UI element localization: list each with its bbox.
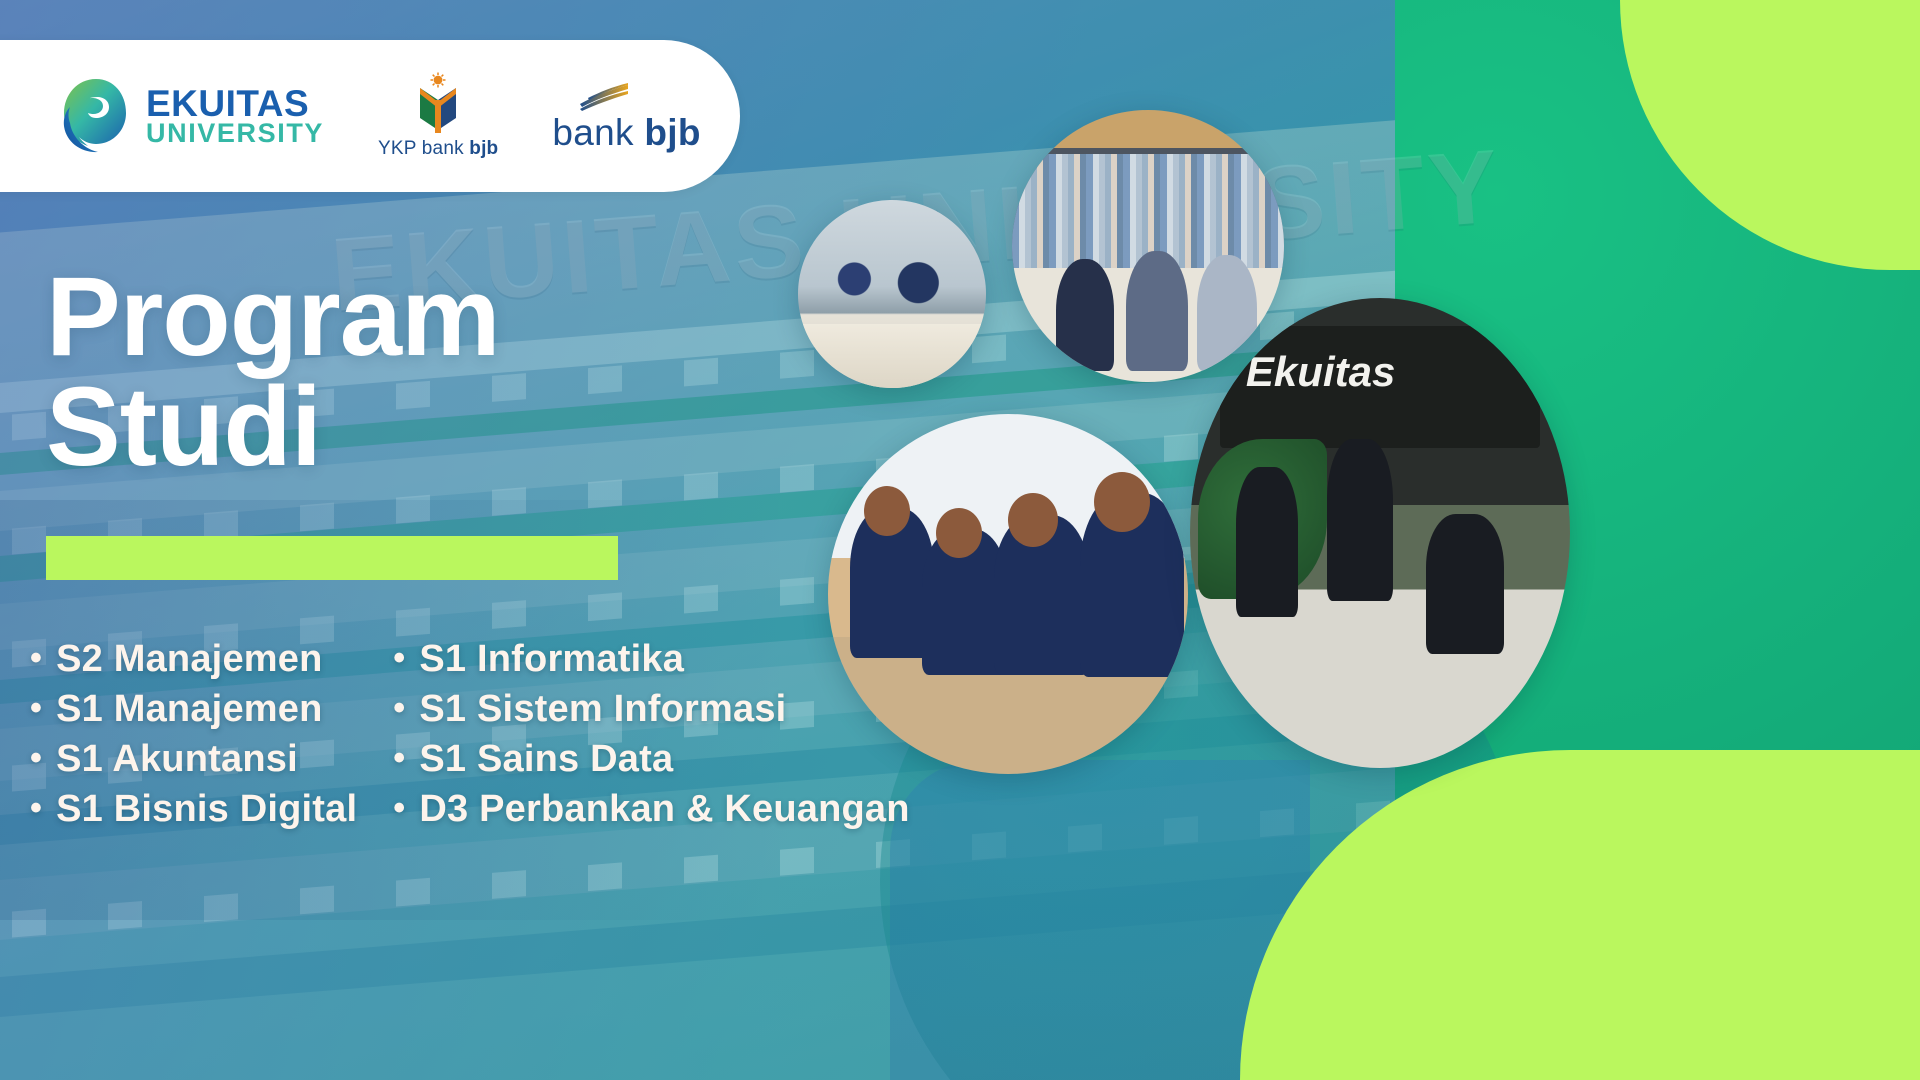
logo-ekuitas-line2: UNIVERSITY	[146, 121, 324, 146]
swoosh-globe-icon	[60, 77, 132, 155]
photo-circle-consultation	[798, 200, 986, 388]
bullet-icon: •	[30, 641, 42, 675]
wave-stripes-icon	[578, 82, 632, 112]
photo-student-head	[1008, 493, 1058, 547]
bullet-icon: •	[30, 791, 42, 825]
program-label: D3 Perbankan & Keuangan	[419, 786, 909, 834]
list-item[interactable]: • S1 Akuntansi	[30, 736, 357, 784]
logo-ekuitas-line1: EKUITAS	[146, 87, 324, 121]
page-title: Program Studi	[46, 262, 500, 482]
logo-bank-bjb[interactable]: bank bjb	[552, 82, 700, 151]
photo-student-head	[1094, 472, 1150, 532]
bullet-icon: •	[30, 741, 42, 775]
list-item[interactable]: • S1 Informatika	[393, 636, 909, 684]
bullet-icon: •	[393, 641, 405, 675]
program-label: S1 Sistem Informasi	[419, 686, 786, 734]
program-label: S1 Akuntansi	[56, 736, 298, 784]
photo-student	[1236, 467, 1298, 617]
photo-student-head	[936, 508, 982, 558]
program-list: • S2 Manajemen • S1 Manajemen • S1 Akunt…	[30, 636, 910, 834]
page-title-line1: Program	[46, 262, 500, 372]
list-item[interactable]: • S1 Bisnis Digital	[30, 786, 357, 834]
logo-ykp-text-bold: bjb	[469, 138, 498, 159]
photo-student	[1426, 514, 1504, 654]
photo-student-head	[864, 486, 910, 536]
logo-ykp-bank-bjb[interactable]: YKP bank bjb	[378, 72, 498, 160]
shield-sun-icon	[415, 72, 461, 134]
photo-person	[1126, 251, 1188, 371]
logo-bjb-text: bank bjb	[552, 114, 700, 151]
bullet-icon: •	[393, 741, 405, 775]
bullet-icon: •	[393, 691, 405, 725]
list-item[interactable]: • D3 Perbankan & Keuangan	[393, 786, 909, 834]
program-label: S1 Informatika	[419, 636, 684, 684]
photo-campus-sign	[1220, 326, 1539, 448]
program-label: S1 Bisnis Digital	[56, 786, 357, 834]
logo-bjb-text-plain: bank	[552, 112, 644, 153]
bullet-icon: •	[30, 691, 42, 725]
list-item[interactable]: • S1 Sistem Informasi	[393, 686, 909, 734]
logo-ykp-text-plain: YKP bank	[378, 138, 469, 159]
photo-student	[1327, 439, 1393, 601]
promotional-banner: EKUITAS UNIVERSITY	[0, 0, 1920, 1080]
photo-consultation-scene	[798, 200, 986, 388]
page-title-line2: Studi	[46, 372, 500, 482]
decorative-lime-underline-bar	[46, 536, 618, 580]
logo-ekuitas-text: EKUITAS UNIVERSITY	[146, 87, 324, 146]
photo-person	[1056, 259, 1114, 371]
logo-ykp-text: YKP bank bjb	[378, 138, 498, 160]
list-item[interactable]: • S1 Sains Data	[393, 736, 909, 784]
logo-bar: EKUITAS UNIVERSITY	[0, 40, 740, 192]
logo-ekuitas-university[interactable]: EKUITAS UNIVERSITY	[60, 77, 324, 155]
program-label: S2 Manajemen	[56, 636, 322, 684]
program-label: S1 Sains Data	[419, 736, 673, 784]
photo-circle-green-space	[1190, 298, 1570, 768]
list-item[interactable]: • S1 Manajemen	[30, 686, 357, 734]
bullet-icon: •	[393, 791, 405, 825]
program-label: S1 Manajemen	[56, 686, 322, 734]
program-column-right: • S1 Informatika • S1 Sistem Informasi •…	[393, 636, 909, 834]
logo-bjb-text-bold: bjb	[644, 112, 700, 153]
list-item[interactable]: • S2 Manajemen	[30, 636, 357, 684]
photo-bookshelf	[1012, 154, 1284, 268]
program-column-left: • S2 Manajemen • S1 Manajemen • S1 Akunt…	[30, 636, 357, 834]
